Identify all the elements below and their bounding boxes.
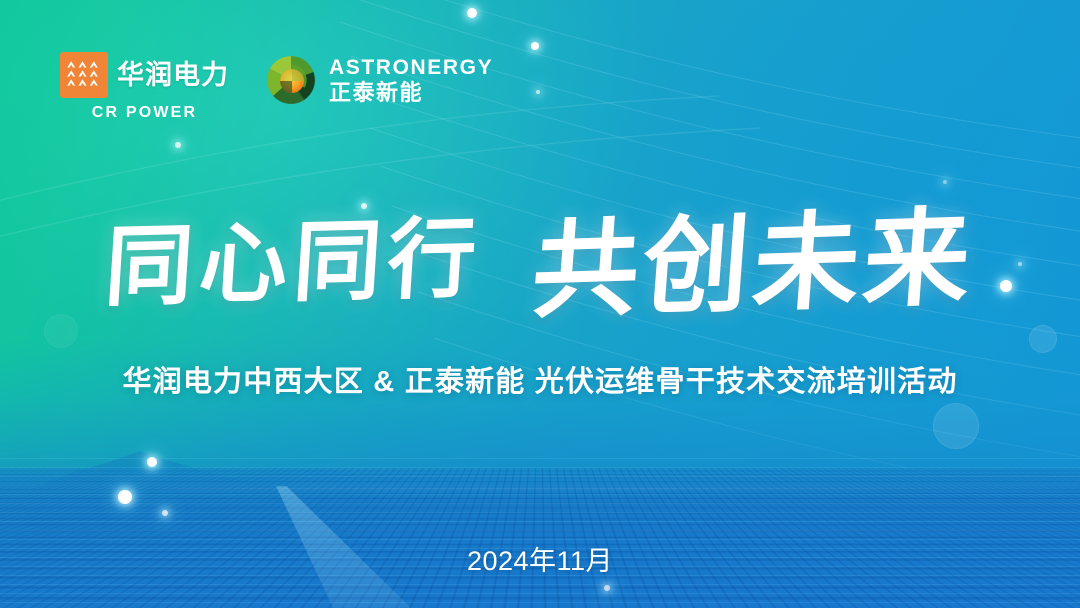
headline-part-two: 共创未来	[528, 171, 981, 339]
bokeh-circle	[933, 403, 979, 449]
cr-power-mark	[60, 52, 108, 98]
sparkle-dot	[467, 8, 477, 18]
solar-panel-rows	[0, 458, 1080, 608]
sparkle-dot	[536, 90, 540, 94]
cr-power-english-name: CR POWER	[92, 105, 198, 121]
cr-power-chinese-name: 华润电力	[117, 62, 229, 89]
poster-subtitle: 华润电力中西大区 & 正泰新能 光伏运维骨干技术交流培训活动	[0, 358, 1080, 400]
astronergy-chinese-name: 正泰新能	[329, 82, 493, 104]
triple-chevron-mountain-icon	[65, 59, 103, 91]
sparkle-dot	[147, 457, 157, 467]
astronergy-english-name: ASTRONERGY	[329, 57, 493, 78]
sparkle-dot	[604, 585, 610, 591]
headline-part-one: 同心同行	[101, 187, 486, 323]
event-poster: 华润电力 CR POWER	[0, 0, 1080, 608]
logo-cr-power[interactable]: 华润电力 CR POWER	[60, 52, 229, 121]
logo-astronergy[interactable]: ASTRONERGY 正泰新能	[265, 54, 493, 106]
poster-headline: 同心同行 共创未来	[0, 178, 1080, 332]
sparkle-dot	[175, 142, 181, 148]
sparkle-dot	[531, 42, 539, 50]
pinwheel-sphere-icon	[265, 54, 317, 106]
poster-date: 2024年11月	[0, 539, 1080, 578]
sparkle-dot	[118, 490, 132, 504]
sponsor-logo-bar: 华润电力 CR POWER	[60, 52, 493, 121]
sparkle-dot	[162, 510, 168, 516]
